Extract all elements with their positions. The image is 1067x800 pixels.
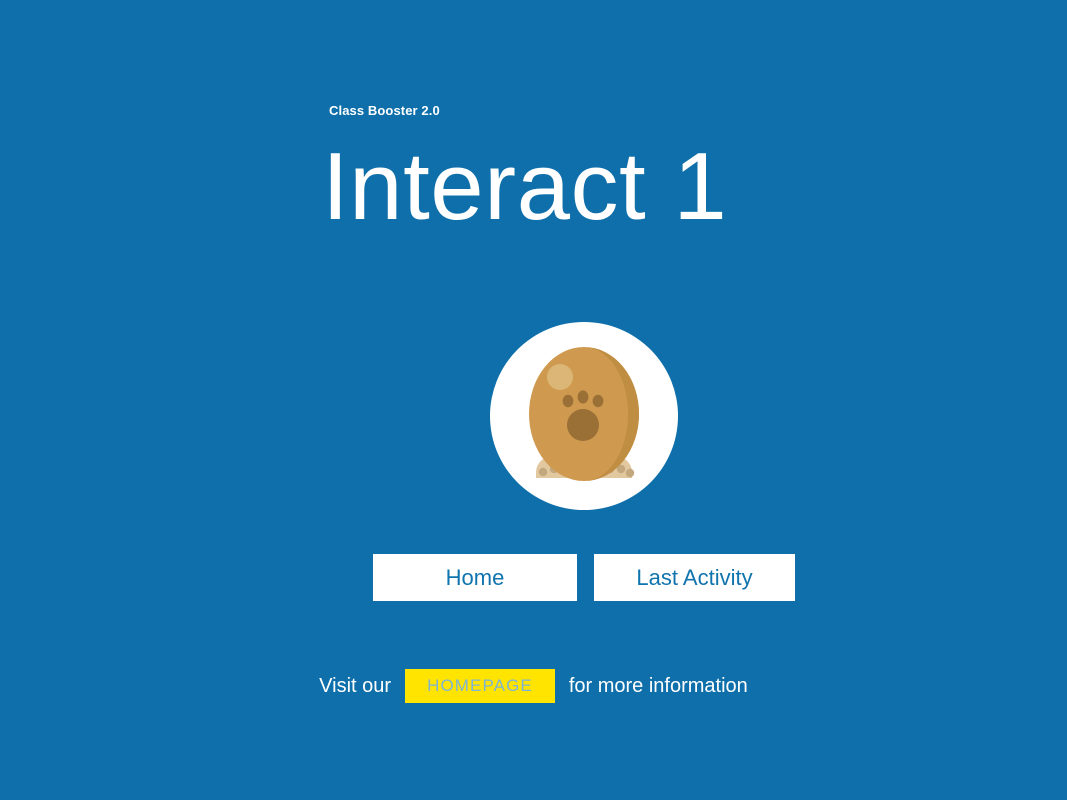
page-title: Interact 1 [322,132,727,242]
footer: Visit our HOMEPAGE for more information [0,668,1067,704]
egg-paw-avatar-icon [490,322,678,510]
last-activity-button[interactable]: Last Activity [594,554,795,601]
navigation-buttons: Home Last Activity [373,554,795,601]
footer-text-after: for more information [555,675,748,698]
app-screen: Class Booster 2.0 Interact 1 [0,0,1067,800]
brand-kicker: Class Booster 2.0 [329,103,440,119]
footer-text-before: Visit our [319,675,405,698]
homepage-link[interactable]: HOMEPAGE [405,669,555,703]
home-button[interactable]: Home [373,554,577,601]
avatar [490,322,678,510]
